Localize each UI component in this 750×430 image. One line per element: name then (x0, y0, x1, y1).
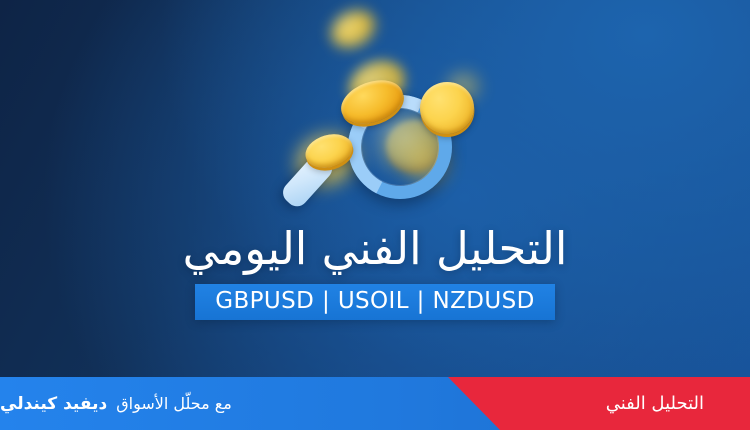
analyst-credit: مع محلّل الأسواق ديفيد كيندلي (0, 377, 300, 430)
analyst-name: ديفيد كيندلي (0, 394, 107, 414)
technical-analysis-banner: التحليل الفني اليومي GBPUSD | USOIL | NZ… (0, 0, 750, 430)
instruments-badge: GBPUSD | USOIL | NZDUSD (195, 284, 555, 320)
footer-bar: مع محلّل الأسواق ديفيد كيندلي التحليل ال… (0, 377, 750, 430)
background-coin-blur-1 (325, 3, 382, 55)
category-label: التحليل الفني (606, 377, 704, 430)
with-analyst-label: مع محلّل الأسواق (116, 394, 232, 413)
headline-block: التحليل الفني اليومي GBPUSD | USOIL | NZ… (0, 222, 750, 320)
banner-title: التحليل الفني اليومي (0, 222, 750, 275)
